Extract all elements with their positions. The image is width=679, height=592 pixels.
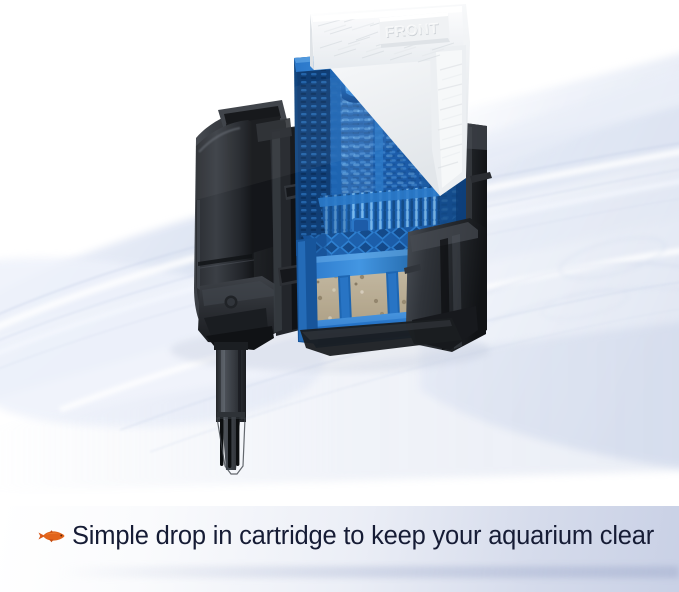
caption-band-shadow [60, 566, 679, 578]
caption-row: Simple drop in cartridge to keep your aq… [0, 506, 679, 566]
floss-front-tab: FRONT FRONT [379, 12, 450, 48]
aquarium-power-filter-product: FRONT FRONT [0, 0, 679, 510]
caption-text: Simple drop in cartridge to keep your aq… [72, 522, 654, 551]
intake-tube [214, 342, 248, 474]
product-image-canvas: FRONT FRONT [0, 0, 679, 592]
fish-icon [36, 526, 66, 546]
